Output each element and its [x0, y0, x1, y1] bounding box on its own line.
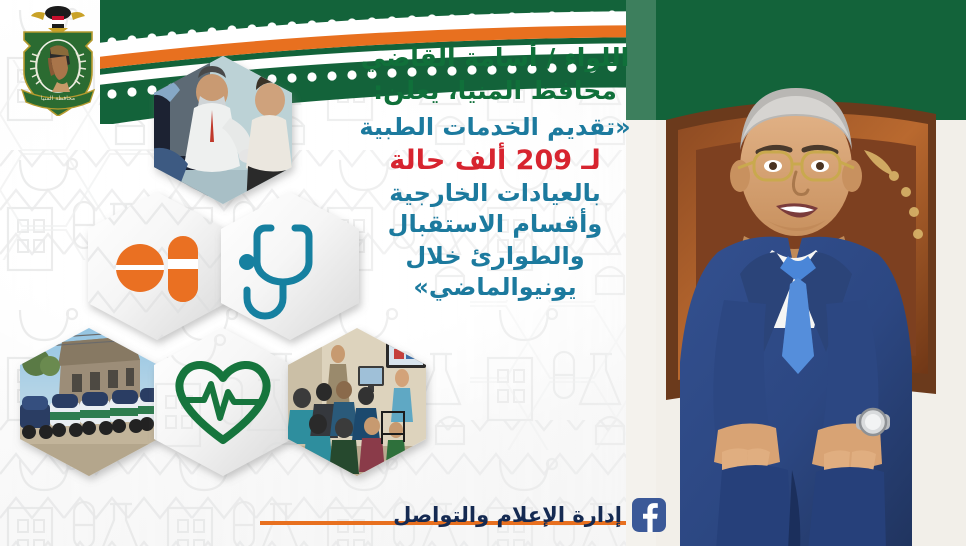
headline-line-6: وأقسام الاستقبال: [330, 209, 660, 240]
headline-line-5: بالعيادات الخارجية: [330, 178, 660, 209]
headline-line-1: اللواء / أسامة القاضي: [330, 42, 660, 75]
footer-label: إدارة الإعلام والتواصل: [393, 503, 622, 527]
headline-line-2: محافظ المنيا، يعلن:: [330, 75, 660, 108]
hex-photo-doctor-examining-child: [146, 54, 303, 208]
headline-line-7: والطوارئ خلال: [330, 241, 660, 272]
headline-block: اللواء / أسامة القاضي محافظ المنيا، يعلن…: [330, 42, 660, 303]
governor-portrait-image: [626, 0, 966, 546]
facebook-icon[interactable]: [632, 498, 666, 532]
hex-photo-clinic-waiting-room: [282, 326, 432, 478]
statistic-count-line: لـ 209 ألف حالة: [330, 143, 660, 178]
hex-icon-heart-pulse: [148, 326, 298, 478]
eagle-crest-icon: [31, 6, 85, 33]
headline-line-3: «تقديم الخدمات الطبية: [330, 112, 660, 143]
poster-canvas: محافظة المنيا: [0, 0, 966, 546]
minya-governorate-emblem-icon: محافظة المنيا: [12, 4, 104, 116]
footer-bar: إدارة الإعلام والتواصل: [0, 484, 680, 546]
hex-icon-pill-capsule: [82, 190, 232, 342]
emblem-caption: محافظة المنيا: [41, 95, 75, 102]
hex-photo-ambulance-fleet: [14, 326, 169, 478]
headline-line-8: يونيوالماضي»: [330, 272, 660, 303]
